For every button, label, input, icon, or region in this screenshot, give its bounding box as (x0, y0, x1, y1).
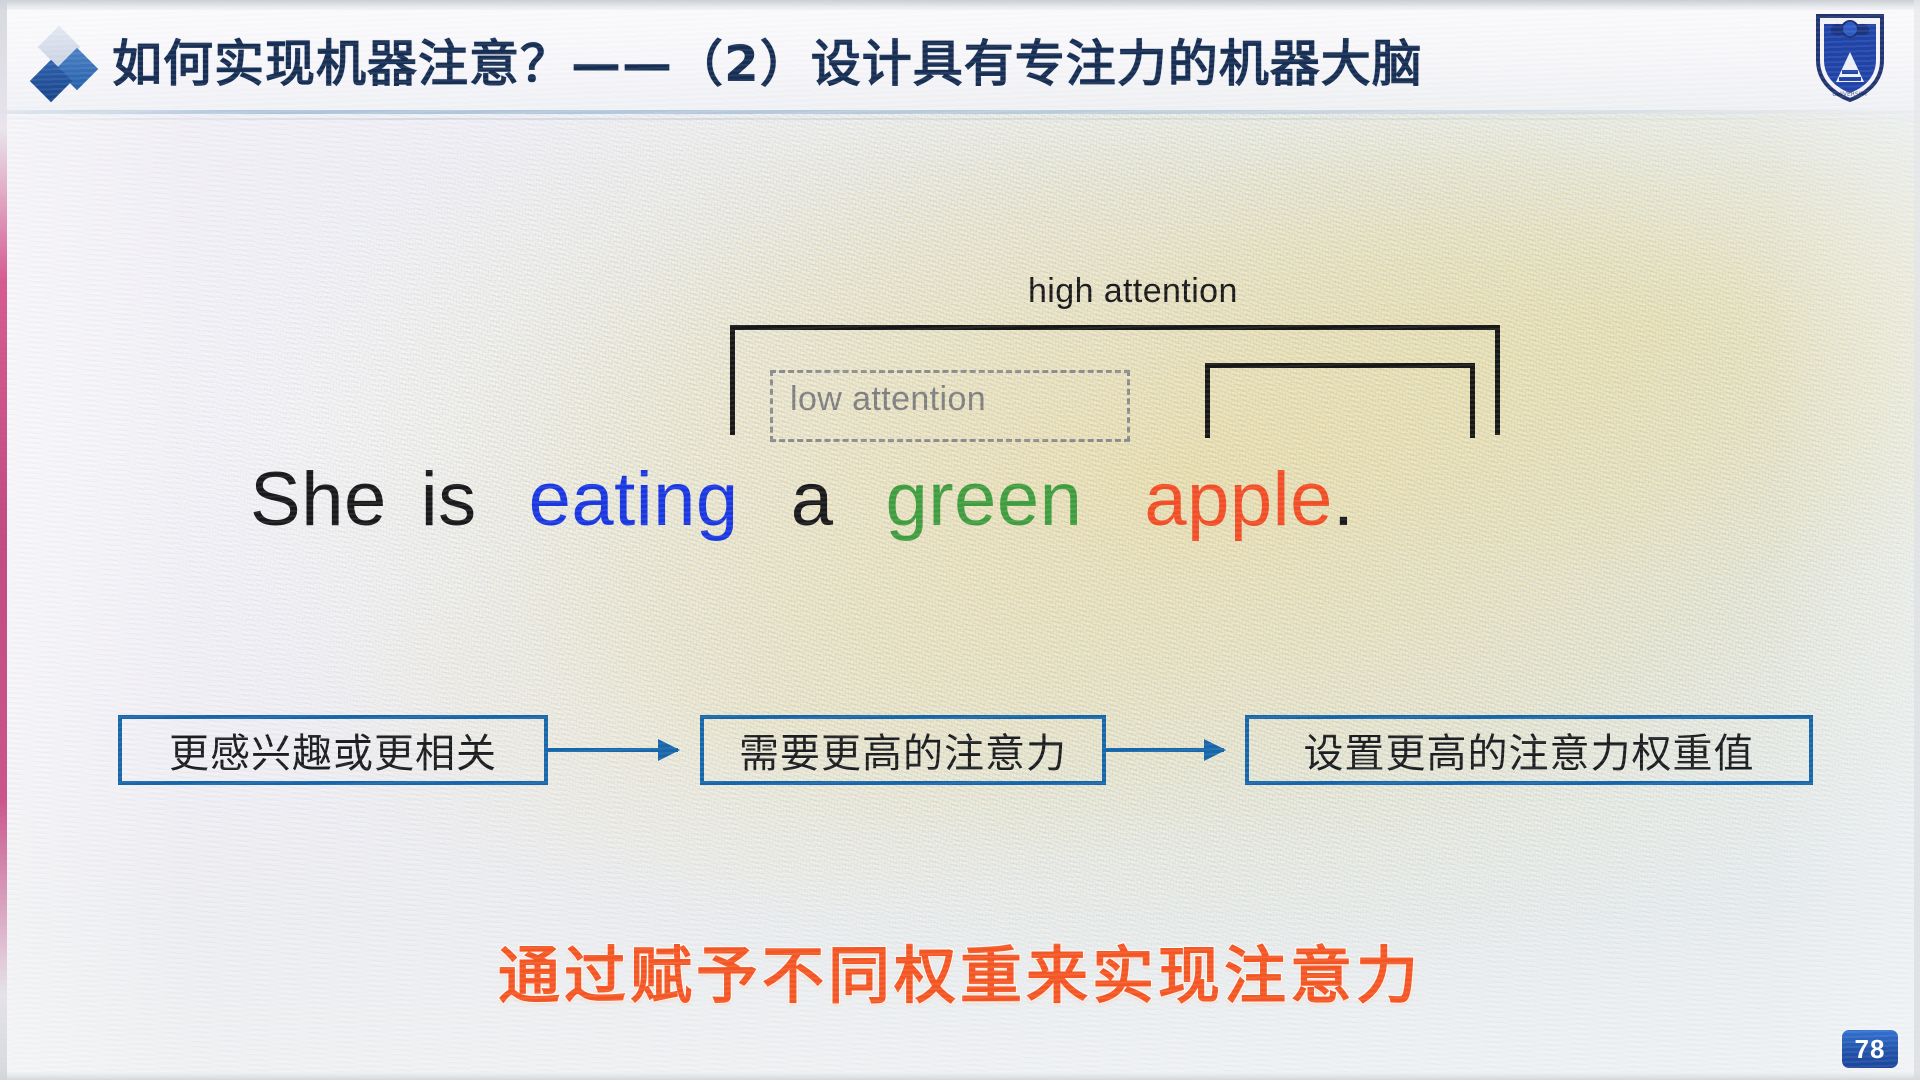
slide-canvas: 如何实现机器注意？——（2）设计具有专注力的机器大脑 UNIVERSITY hi… (0, 0, 1920, 1080)
arrow-right-icon (548, 748, 678, 752)
low-attention-label: low attention (790, 380, 986, 419)
page-number-badge: 78 (1842, 1030, 1898, 1068)
page-number: 78 (1855, 1034, 1886, 1065)
photo-edge-left (0, 0, 7, 1080)
flow-step-1-label: 更感兴趣或更相关 (169, 721, 497, 779)
apple-emphasis-bracket (1205, 363, 1475, 438)
university-crest-icon: UNIVERSITY (1808, 8, 1892, 104)
photo-edge-right (1914, 0, 1920, 1080)
flow-step-2-label: 需要更高的注意力 (739, 721, 1067, 779)
diamond-bullet-icon (28, 32, 98, 98)
header-divider-line-secondary (0, 118, 1920, 120)
photo-edge-top (0, 0, 1920, 10)
example-sentence: Sheiseatingagreenapple. (0, 455, 1920, 545)
sentence-period: . (1333, 455, 1355, 545)
flow-step-1: 更感兴趣或更相关 (118, 715, 548, 785)
flow-step-3: 设置更高的注意力权重值 (1245, 715, 1813, 785)
slide-title: 如何实现机器注意？——（2）设计具有专注力的机器大脑 (112, 26, 1752, 102)
sentence-word-a: a (791, 455, 834, 545)
high-attention-label: high attention (1018, 272, 1248, 311)
arrow-head (658, 739, 680, 761)
sentence-word-green: green (885, 455, 1082, 545)
header-divider-line (0, 110, 1920, 114)
photo-edge-bottom (0, 1072, 1920, 1080)
arrow-right-icon-2 (1106, 748, 1224, 752)
slide-caption: 通过赋予不同权重来实现注意力 (0, 925, 1920, 1015)
flow-step-2: 需要更高的注意力 (700, 715, 1106, 785)
arrow-head-2 (1204, 739, 1226, 761)
attention-flow-chart: 更感兴趣或更相关 需要更高的注意力 设置更高的注意力权重值 (0, 715, 1920, 790)
flow-step-3-label: 设置更高的注意力权重值 (1304, 721, 1755, 779)
sentence-word-apple: apple (1144, 455, 1332, 545)
svg-text:UNIVERSITY: UNIVERSITY (1832, 91, 1868, 98)
sentence-word-she: She (250, 455, 387, 545)
sentence-word-eating: eating (529, 455, 739, 545)
sentence-word-is: is (421, 455, 477, 545)
